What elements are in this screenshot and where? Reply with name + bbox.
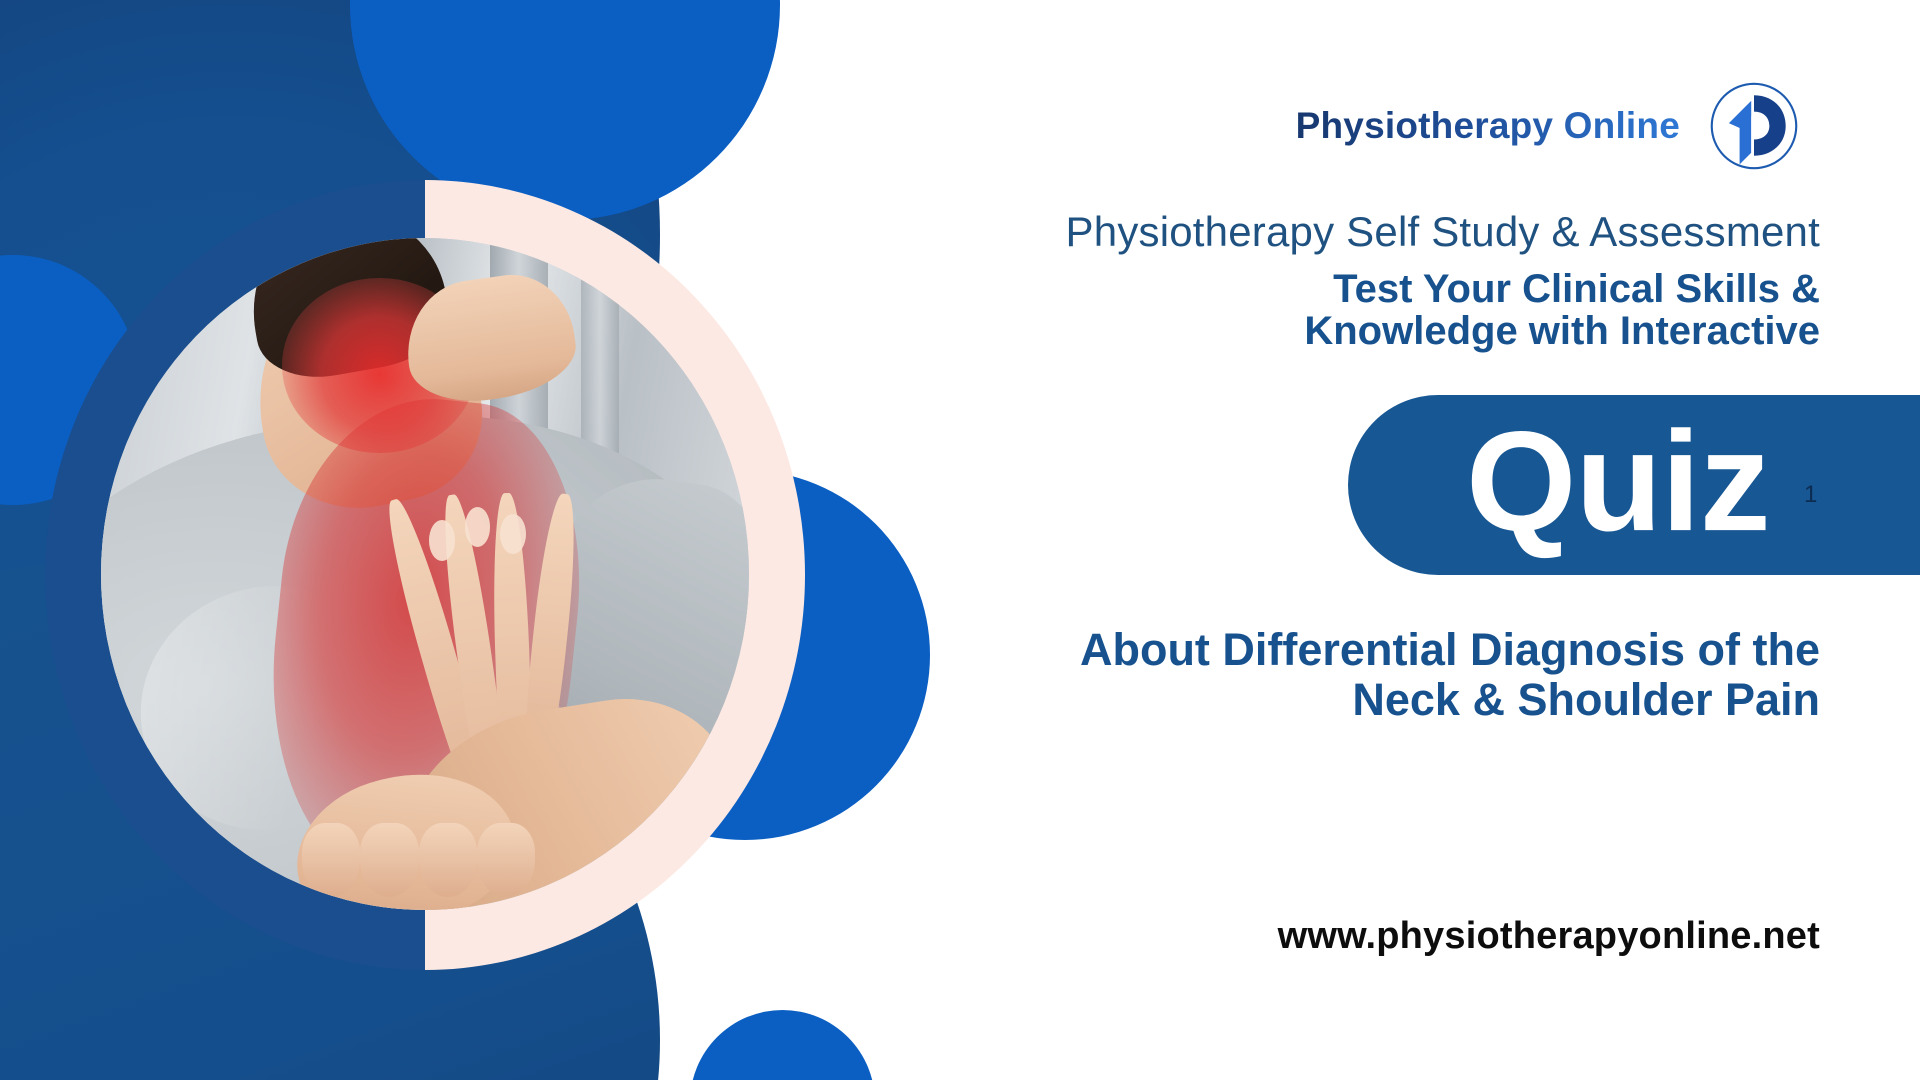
neck-shoulder-pain-photo: [101, 238, 749, 910]
blue-circle-bottom: [690, 1010, 875, 1080]
photo-fingernail: [429, 520, 455, 560]
photo-finger: [360, 823, 418, 897]
slide-canvas: Physiotherapy Online Physiotherapy Self …: [0, 0, 1920, 1080]
photo-finger: [477, 823, 535, 897]
quiz-banner[interactable]: Quiz 1: [1348, 395, 1920, 575]
quiz-superscript-number: 1: [1804, 483, 1817, 507]
photo-medallion: [45, 180, 805, 970]
hero-subhead: About Differential Diagnosis of the Neck…: [840, 625, 1820, 726]
hero-headline: Test Your Clinical Skills & Knowledge wi…: [1060, 268, 1820, 353]
photo-finger: [419, 823, 477, 897]
quiz-label: Quiz: [1466, 411, 1770, 553]
physiotherapy-p-logo-icon: [1706, 78, 1802, 174]
hero-subhead-line-1: About Differential Diagnosis of the: [840, 625, 1820, 675]
brand-header[interactable]: Physiotherapy Online: [1296, 78, 1802, 174]
photo-fingernail: [500, 514, 526, 554]
photo-finger: [302, 823, 360, 897]
site-url[interactable]: www.physiotherapyonline.net: [1278, 915, 1820, 958]
hero-headline-line-2: Knowledge with Interactive: [1060, 310, 1820, 352]
hero-subhead-line-2: Neck & Shoulder Pain: [840, 675, 1820, 725]
hero-headline-line-1: Test Your Clinical Skills &: [1060, 268, 1820, 310]
hero-kicker: Physiotherapy Self Study & Assessment: [1066, 208, 1820, 256]
brand-name: Physiotherapy Online: [1296, 105, 1680, 147]
